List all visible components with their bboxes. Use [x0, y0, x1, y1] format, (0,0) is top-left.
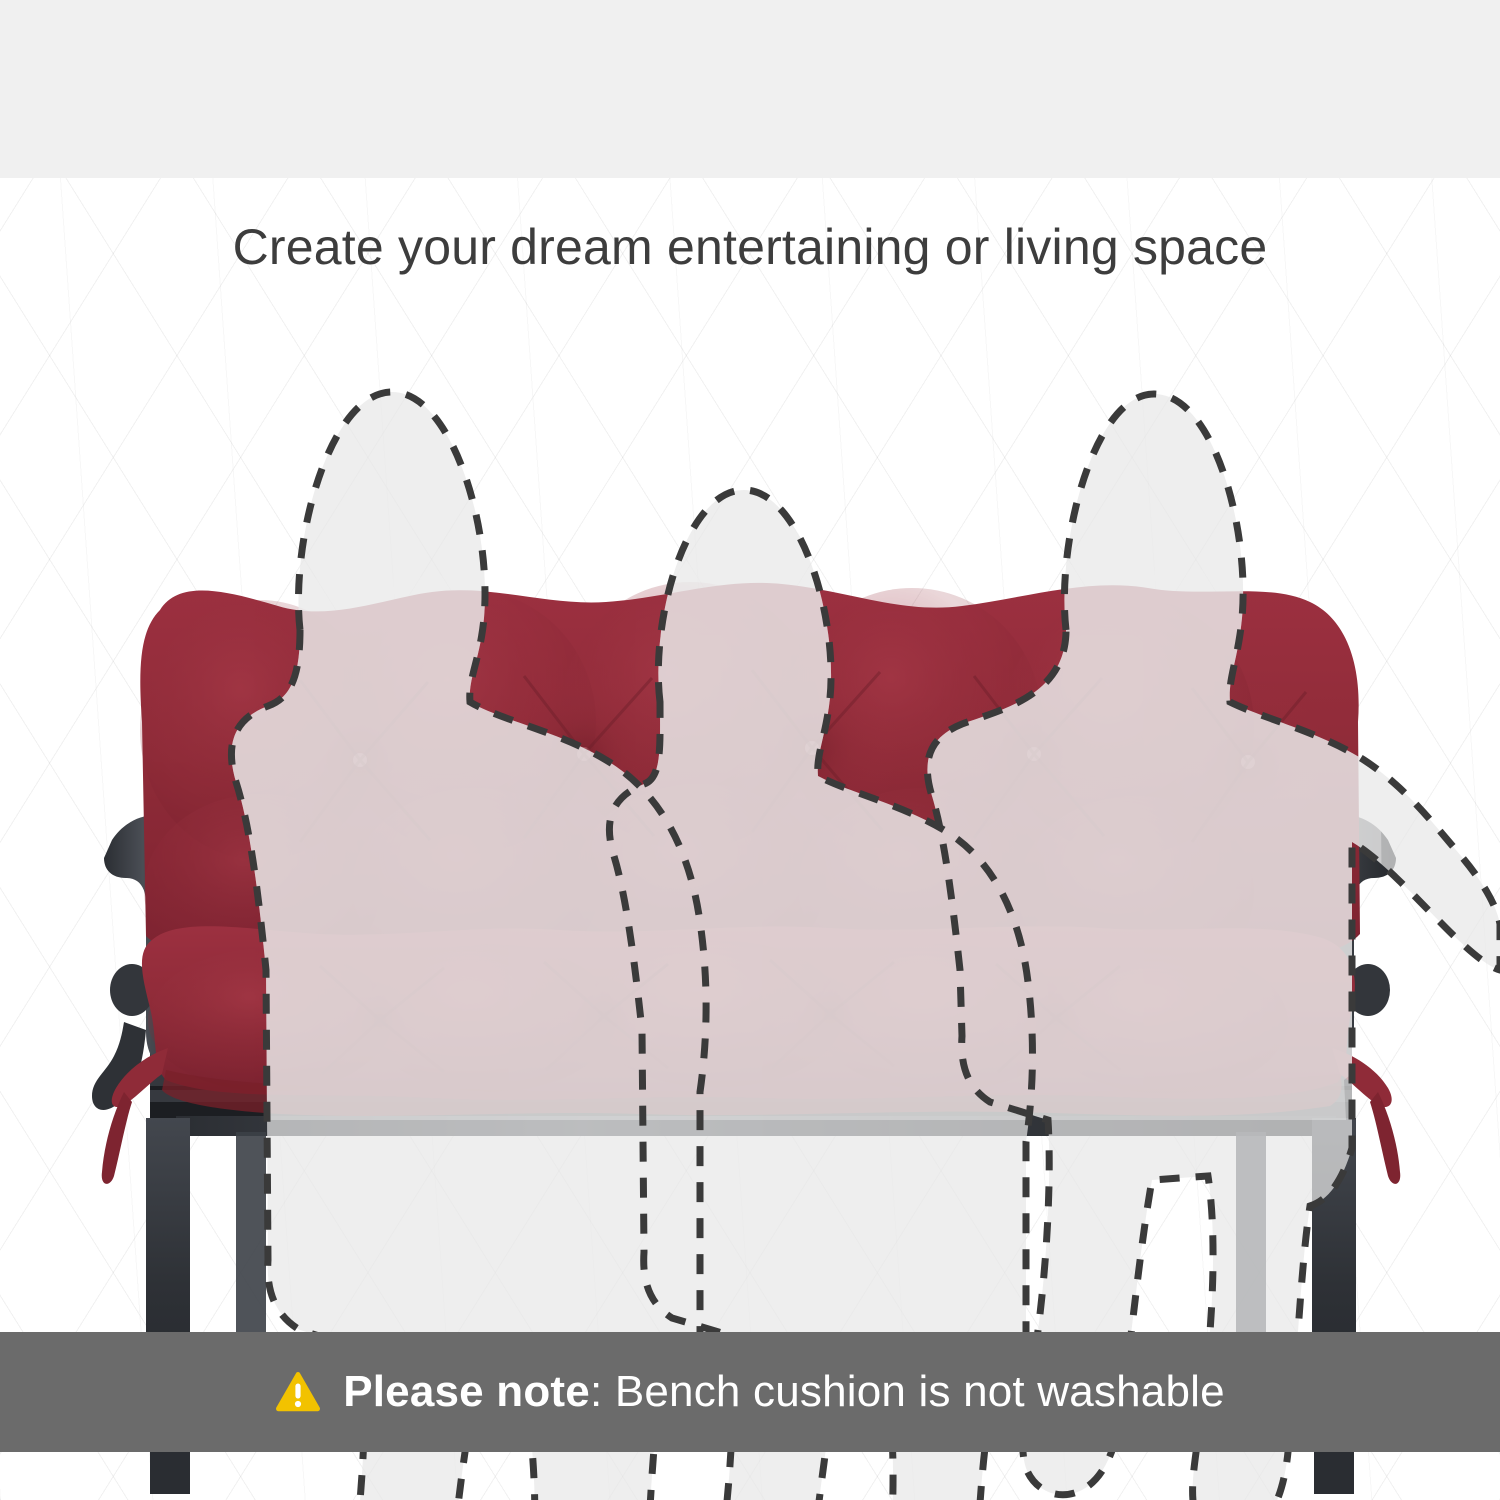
subtitle-tagline: Create your dream entertaining or living… [0, 218, 1500, 276]
please-note-banner: Please note: Bench cushion is not washab… [0, 1332, 1500, 1452]
product-marketing-image: 3 SEATER GARDEN BENCH CUSHION Create you… [0, 0, 1500, 1500]
warning-triangle-icon [275, 1371, 321, 1413]
please-note-rest-text: : Bench cushion is not washable [590, 1367, 1225, 1416]
please-note-bold-label: Please note [343, 1367, 590, 1416]
product-scene [0, 330, 1500, 1500]
header-band [0, 0, 1500, 178]
please-note-text: Please note: Bench cushion is not washab… [343, 1367, 1225, 1417]
